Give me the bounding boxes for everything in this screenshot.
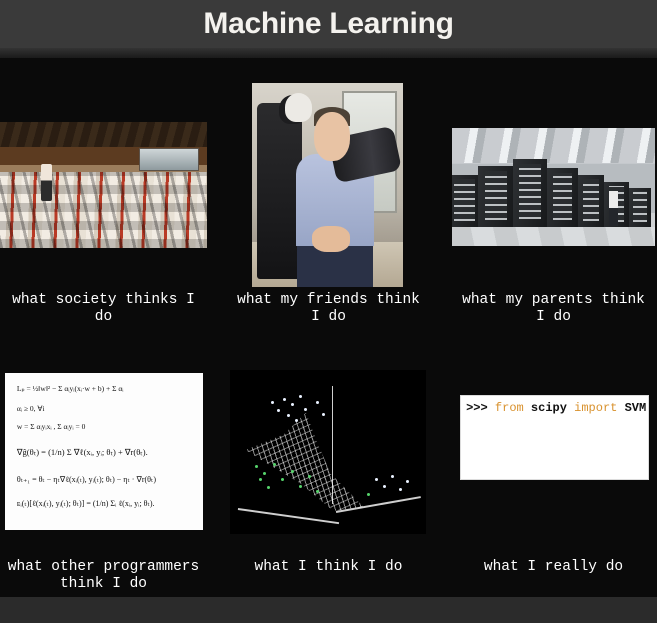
panel-i-really-do-caption: what I really do bbox=[450, 559, 657, 576]
man-hands bbox=[312, 226, 350, 253]
panel-parents-caption: what my parents think I do bbox=[450, 292, 657, 326]
panel-friends-image bbox=[252, 83, 403, 287]
meme-image: Machine Learning what society thinks I d… bbox=[0, 0, 657, 623]
ceiling-beams bbox=[0, 122, 207, 147]
man-jeans bbox=[297, 246, 373, 287]
data-center-photo bbox=[452, 128, 655, 246]
server-rack bbox=[547, 168, 577, 227]
equation-line: ᴇᵢ(ₜ)[ℓ(xᵢ(ₜ), yᵢ(ₜ); θₜ)] = (1/n) Σᵢ ℓ(… bbox=[17, 499, 155, 508]
footer-bar bbox=[0, 597, 657, 623]
data-point bbox=[316, 401, 319, 404]
panel-society-caption: what society thinks I do bbox=[0, 292, 207, 326]
server-rack bbox=[452, 175, 480, 227]
data-point bbox=[375, 478, 378, 481]
data-point bbox=[283, 398, 286, 401]
data-point bbox=[271, 401, 274, 404]
panel-i-really-do-image: >>> from scipy import SVM bbox=[452, 381, 655, 494]
robot-rows bbox=[0, 172, 207, 248]
raised-floor bbox=[452, 227, 655, 246]
data-point bbox=[263, 472, 266, 475]
equation-line: θₜ₊₁ = θₜ − ηₜ∇ℓ(xᵢ(ₜ), yᵢ(ₜ); θₜ) − ηₜ … bbox=[17, 475, 156, 484]
data-point bbox=[281, 478, 284, 481]
data-point bbox=[316, 490, 319, 493]
equation-line: αᵢ ≥ 0, ∀i bbox=[17, 404, 45, 413]
hyperplane-mesh bbox=[246, 413, 383, 511]
man-with-robot-photo bbox=[252, 83, 403, 287]
console-code-line: >>> from scipy import SVM bbox=[466, 401, 646, 415]
data-point bbox=[267, 486, 270, 489]
projection-screen bbox=[139, 148, 199, 170]
data-point bbox=[291, 403, 294, 406]
data-point bbox=[277, 409, 280, 412]
panel-society-image bbox=[0, 122, 207, 248]
panel-other-programmers-image: Lₚ = ½‖w‖² − Σ αᵢyᵢ(xᵢ·w + b) + Σ αᵢ αᵢ … bbox=[5, 373, 203, 530]
panel-other-programmers-caption: what other programmers think I do bbox=[0, 559, 207, 593]
data-point bbox=[299, 485, 302, 488]
data-point bbox=[287, 414, 290, 417]
panel-i-think-caption: what I think I do bbox=[225, 559, 432, 576]
robot-head bbox=[285, 93, 312, 122]
panel-friends-caption: what my friends think I do bbox=[225, 292, 432, 326]
technician bbox=[609, 191, 618, 226]
robot-hall-photo bbox=[0, 122, 207, 248]
console-window: >>> from scipy import SVM bbox=[460, 395, 649, 481]
equations-sheet: Lₚ = ½‖w‖² − Σ αᵢyᵢ(xᵢ·w + b) + Σ αᵢ αᵢ … bbox=[5, 373, 203, 530]
data-point bbox=[383, 485, 386, 488]
header-gradient bbox=[0, 48, 657, 58]
person-standing bbox=[41, 164, 51, 202]
data-point bbox=[299, 395, 302, 398]
module-name: scipy bbox=[524, 401, 574, 415]
server-rack bbox=[513, 159, 548, 227]
man-face bbox=[314, 112, 350, 161]
keyword-import: import bbox=[574, 401, 617, 415]
equation-line: Lₚ = ½‖w‖² − Σ αᵢyᵢ(xᵢ·w + b) + Σ αᵢ bbox=[17, 384, 124, 393]
data-point bbox=[259, 478, 262, 481]
equation-line: w = Σ αᵢyᵢxᵢ , Σ αᵢyᵢ = 0 bbox=[17, 422, 85, 431]
data-point bbox=[367, 493, 370, 496]
page-title: Machine Learning bbox=[203, 9, 453, 39]
data-point bbox=[255, 465, 258, 468]
axis-left bbox=[238, 508, 339, 524]
data-point bbox=[295, 419, 298, 422]
server-rack bbox=[578, 175, 604, 227]
equation-line: ∇ĝ(θₜ) = (1/n) Σ ∇ℓ(xᵢ, yᵢ; θₜ) + ∇r(θₜ)… bbox=[17, 447, 148, 458]
data-point bbox=[406, 480, 409, 483]
server-rack bbox=[478, 166, 513, 227]
data-point bbox=[391, 475, 394, 478]
panel-parents-image bbox=[452, 128, 655, 246]
header-bar: Machine Learning bbox=[0, 0, 657, 48]
python-console: >>> from scipy import SVM bbox=[452, 381, 655, 494]
ceiling-lights bbox=[452, 128, 655, 163]
keyword-from: from bbox=[495, 401, 524, 415]
svm-3d-plot bbox=[230, 370, 426, 534]
panel-i-think-image bbox=[230, 370, 426, 534]
server-rack bbox=[629, 188, 651, 227]
data-point bbox=[322, 413, 325, 416]
console-prompt: >>> bbox=[466, 401, 495, 415]
data-point bbox=[399, 488, 402, 491]
imported-symbol: SVM bbox=[617, 401, 646, 415]
data-point bbox=[291, 470, 294, 473]
data-point bbox=[304, 408, 307, 411]
